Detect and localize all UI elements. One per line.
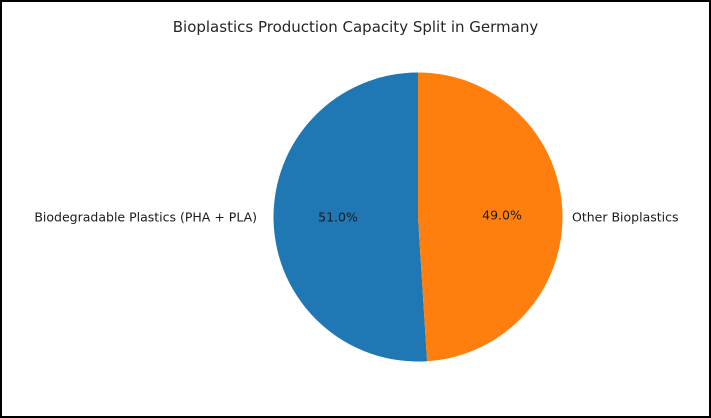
pie-label-other-bioplastics: Other Bioplastics [572, 210, 679, 225]
pie-percent-other-bioplastics: 49.0% [482, 208, 522, 223]
pie-percent-biodegradable-plastics: 51.0% [318, 210, 358, 225]
pie-chart: 51.0% 49.0% [273, 72, 563, 362]
page-title: Bioplastics Production Capacity Split in… [2, 18, 709, 36]
chart-figure: Bioplastics Production Capacity Split in… [0, 0, 711, 418]
pie-label-biodegradable-plastics: Biodegradable Plastics (PHA + PLA) [34, 210, 257, 225]
